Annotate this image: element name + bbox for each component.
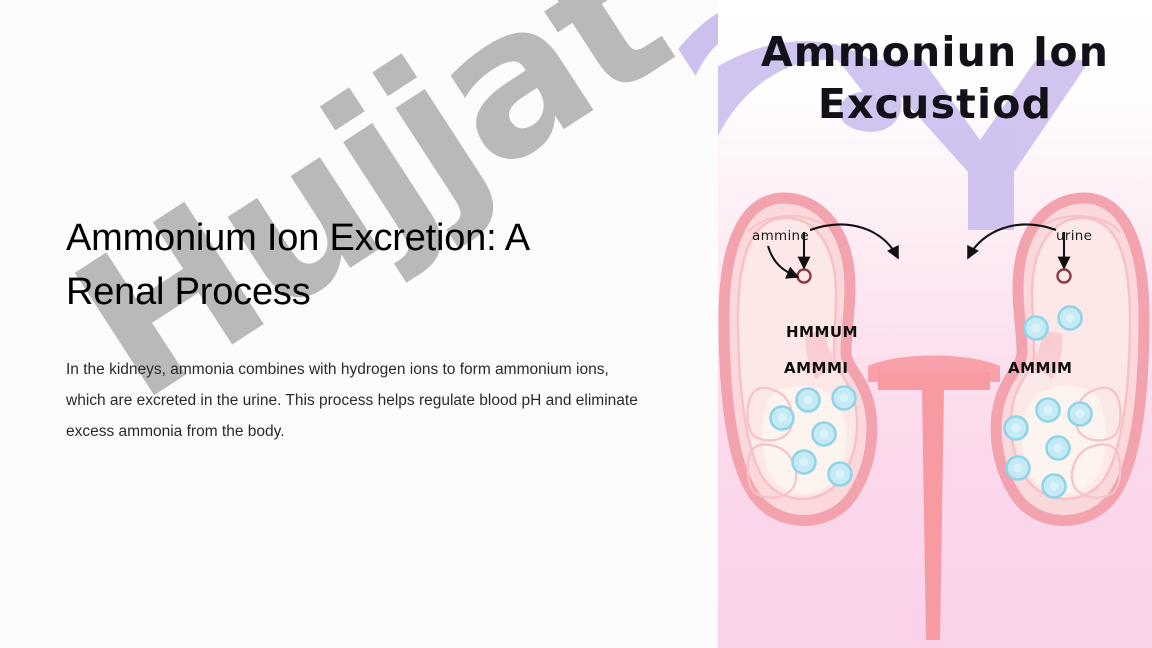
slide-body-paragraph: In the kidneys, ammonia combines with hy…	[66, 354, 638, 447]
left-kidney-label-line2: AMMMI	[784, 354, 848, 378]
label-ammine: ammine	[752, 228, 809, 244]
ureter-vessel	[868, 356, 1000, 641]
slide-text-block: Ammonium Ion Excretion: A Renal Process …	[66, 212, 646, 447]
label-urine: urine	[1056, 228, 1092, 244]
illustration-panel: Ammoniun Ion Excustiod	[718, 0, 1152, 648]
illustration-heading: Ammoniun Ion Excustiod	[718, 26, 1152, 131]
right-kidney-label: AMMIM	[1008, 354, 1072, 378]
slide-canvas: Hujjat 24 Ammonium Ion Excretion: A Rena…	[0, 0, 1152, 648]
page-title: Ammonium Ion Excretion: A Renal Process	[66, 212, 646, 320]
left-kidney-label-line1: HMMUM	[786, 318, 858, 342]
